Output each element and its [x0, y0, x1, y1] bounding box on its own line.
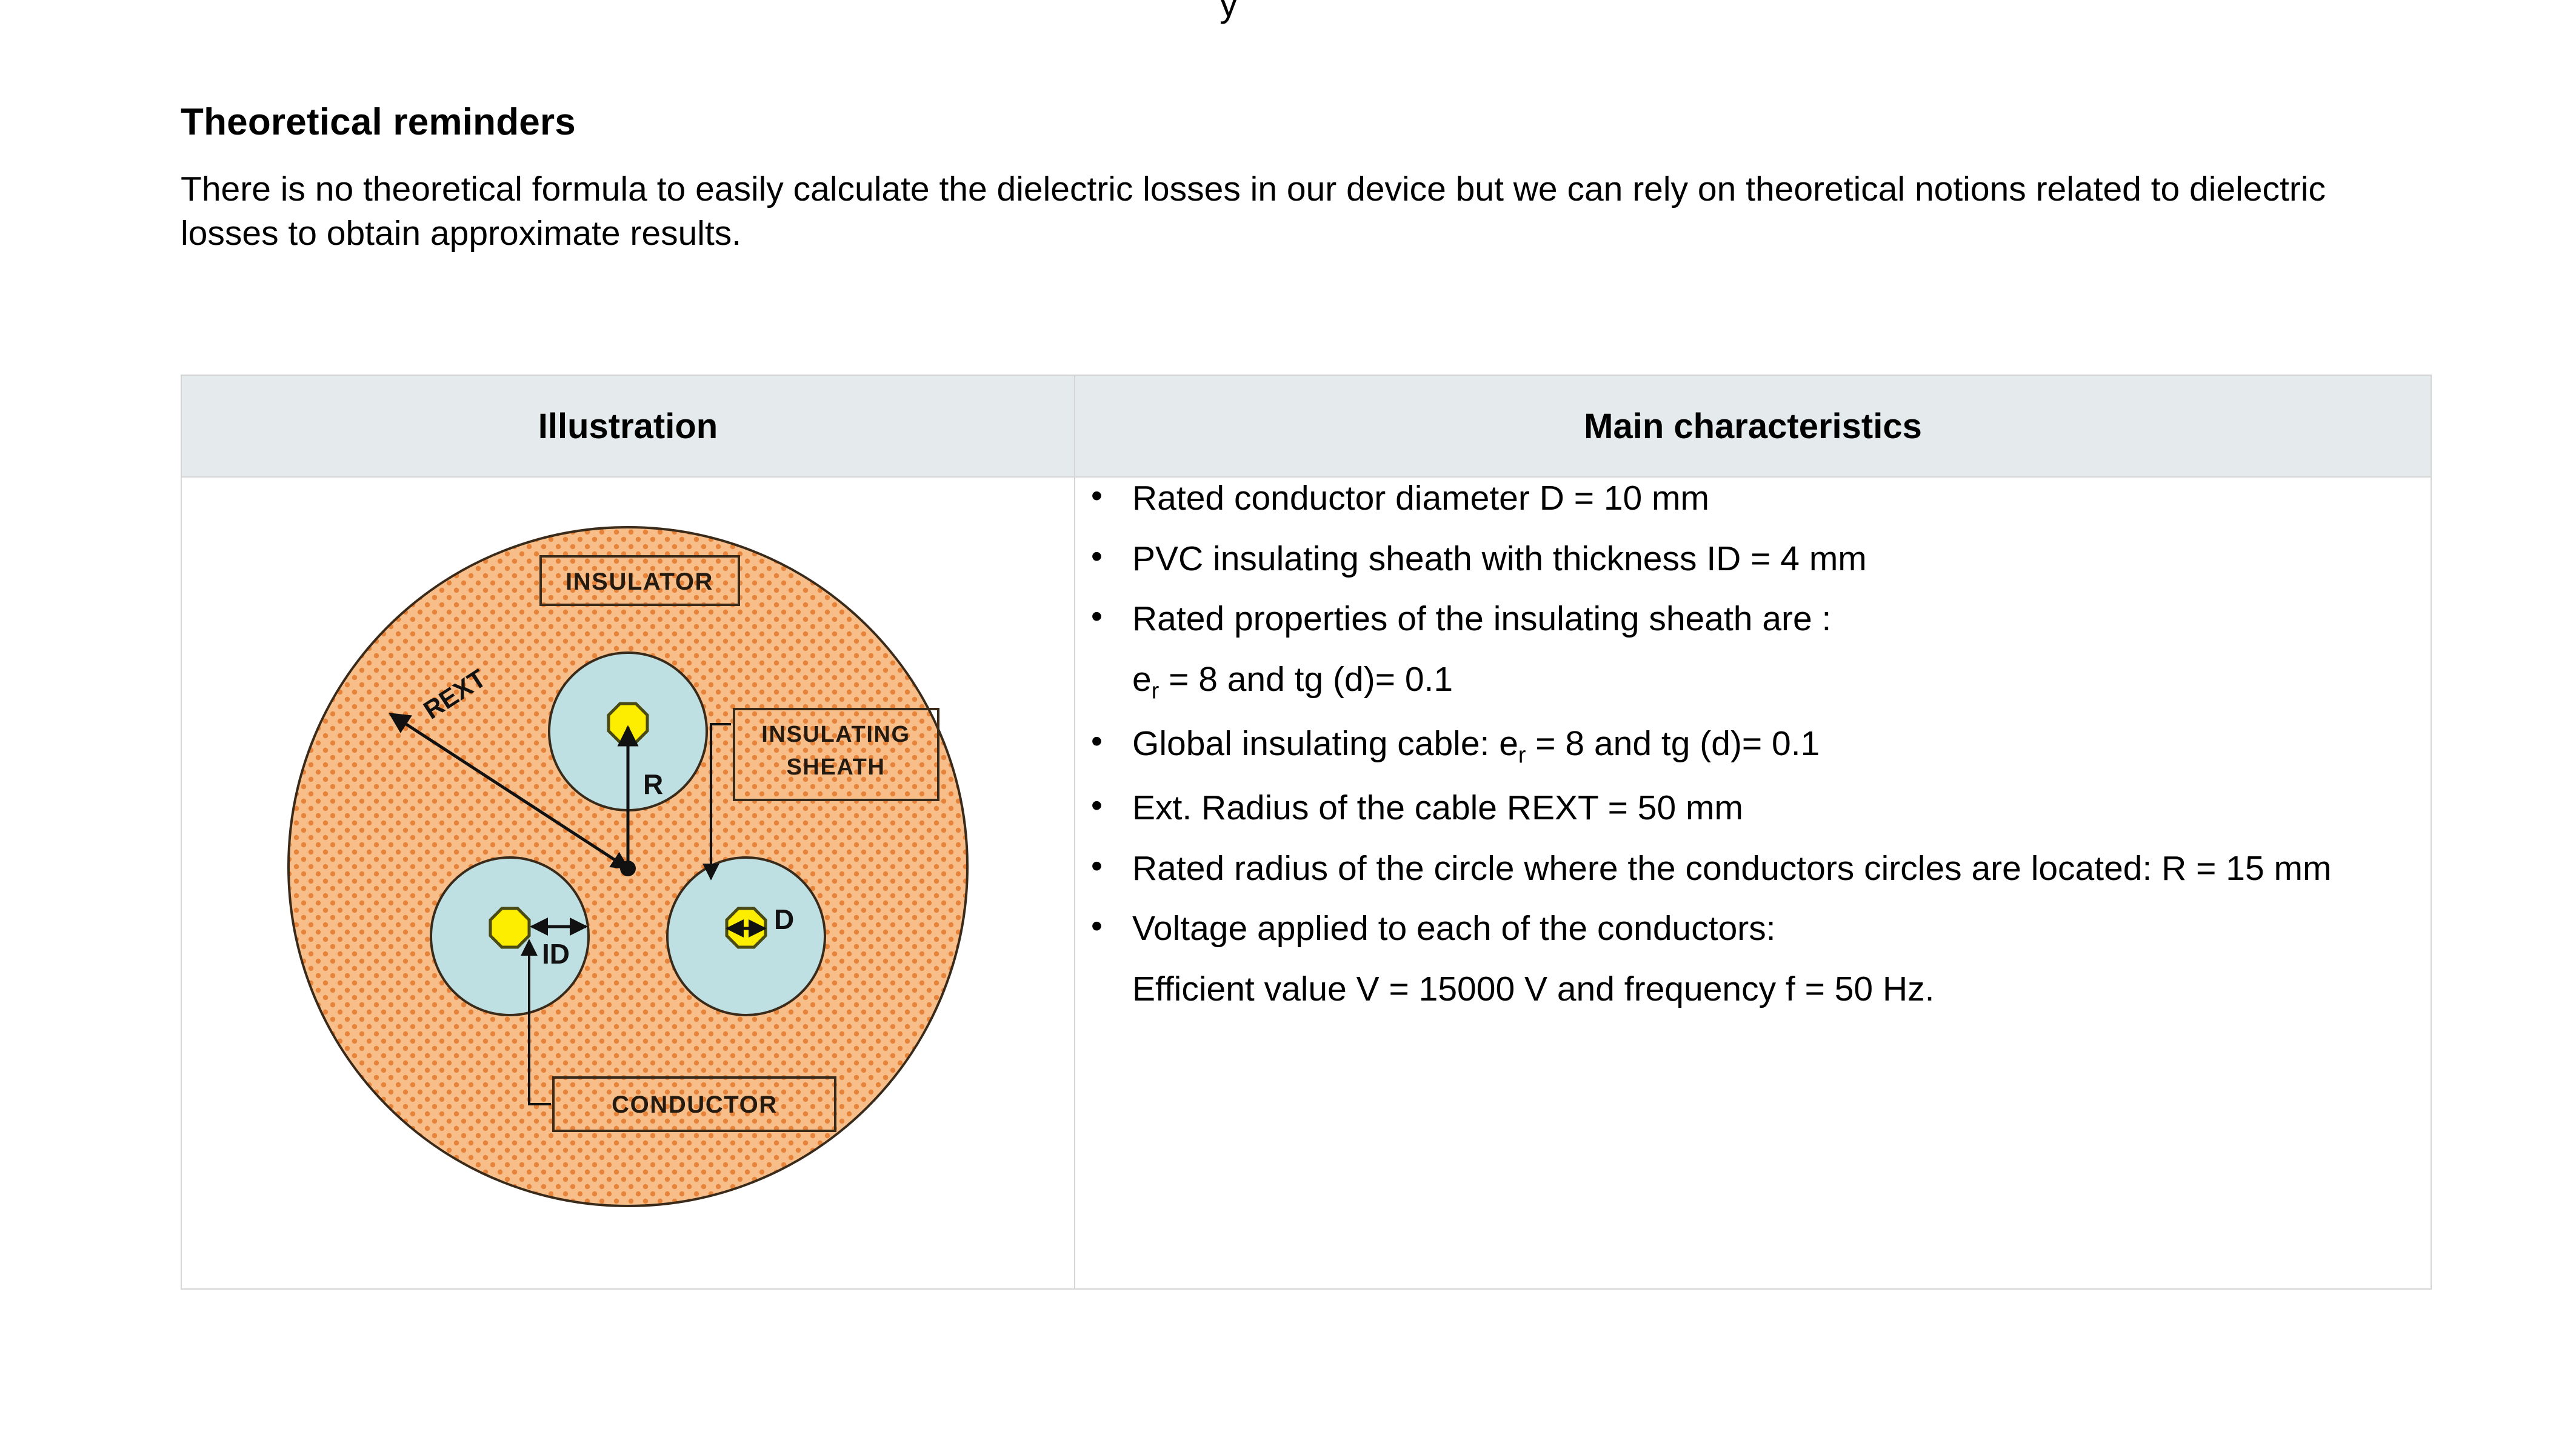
illustration-cell: R REXT D ID INSULATOR [181, 477, 1075, 1289]
intro-paragraph: There is no theoretical formula to easil… [181, 167, 2399, 256]
cut-off-glyph-above: y [1220, 0, 1238, 25]
subscript-r: r [1152, 678, 1160, 703]
list-item: PVC insulating sheath with thickness ID … [1075, 538, 2431, 581]
subscript-r: r [1518, 742, 1526, 767]
table-header-row: Illustration Main characteristics [181, 375, 2431, 477]
characteristics-cell: Rated conductor diameter D = 10 mmPVC in… [1075, 477, 2431, 1289]
table-body-row: R REXT D ID INSULATOR [181, 477, 2431, 1289]
list-item: Rated properties of the insulating sheat… [1075, 598, 2431, 641]
d-dimension-label: D [774, 904, 794, 935]
list-item: Rated radius of the circle where the con… [1075, 848, 2431, 890]
list-item: Global insulating cable: er = 8 and tg (… [1075, 723, 2431, 769]
page-title: Theoretical reminders [181, 102, 2423, 143]
column-header-illustration: Illustration [181, 375, 1075, 477]
list-item: er = 8 and tg (d)= 0.1 [1075, 659, 2431, 705]
insulator-label: INSULATOR [566, 568, 713, 595]
insulating-sheath-label-line2: SHEATH [786, 754, 885, 780]
cable-specification-table: Illustration Main characteristics [181, 375, 2432, 1290]
list-item: Ext. Radius of the cable REXT = 50 mm [1075, 787, 2431, 830]
list-item: Voltage applied to each of the conductor… [1075, 908, 2431, 950]
id-dimension-label: ID [542, 938, 570, 970]
insulating-sheath-label-line1: INSULATING [761, 722, 910, 747]
cable-cross-section-diagram: R REXT D ID INSULATOR [249, 485, 1007, 1248]
list-item: Rated conductor diameter D = 10 mm [1075, 478, 2431, 520]
characteristics-list: Rated conductor diameter D = 10 mmPVC in… [1075, 478, 2431, 1010]
list-item: Efficient value V = 15000 V and frequenc… [1075, 968, 2431, 1011]
conductor-label: CONDUCTOR [612, 1091, 778, 1118]
conductor-left [490, 908, 529, 947]
r-dimension-label: R [643, 768, 663, 800]
document-text-block: Theoretical reminders There is no theore… [181, 102, 2423, 256]
column-header-characteristics: Main characteristics [1075, 375, 2431, 477]
